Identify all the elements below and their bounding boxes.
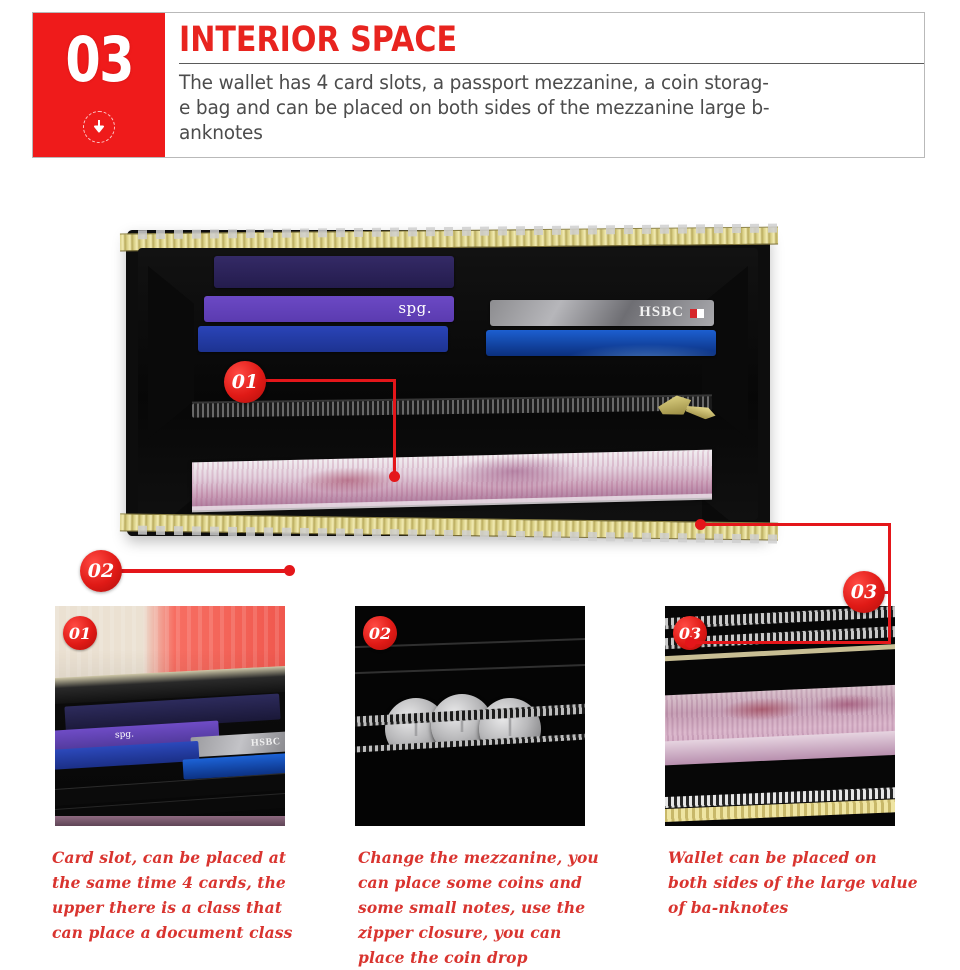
card-label-spg: spg. <box>398 301 432 316</box>
wallet-illustration: spg. HSBC <box>108 224 788 542</box>
callout-point-02 <box>284 565 295 576</box>
callout-leader-03-vertical <box>888 523 891 644</box>
panel-01-label-hsbc: HSBC <box>251 736 281 749</box>
callout-leader-02 <box>118 569 293 573</box>
card-slot-group-right: HSBC <box>490 292 720 378</box>
callout-point-03-top <box>695 519 706 530</box>
header-description: The wallet has 4 card slots, a passport … <box>179 70 930 145</box>
down-arrow-icon <box>83 111 115 143</box>
card-spg: spg. <box>204 296 454 322</box>
callout-point-01 <box>389 471 400 482</box>
title-divider <box>179 63 924 64</box>
panel-01-label-spg: spg. <box>115 729 135 740</box>
step-number-box: 03 <box>33 13 165 157</box>
panel-02-pocket-shadow <box>355 739 585 826</box>
callout-badge-02: 02 <box>80 550 122 592</box>
callout-leader-01-horizontal <box>262 379 396 382</box>
card-blue-right <box>486 330 716 356</box>
card-passport-slot <box>214 256 454 288</box>
card-label-hsbc: HSBC <box>639 305 684 320</box>
header-body: INTERIOR SPACE The wallet has 4 card slo… <box>165 13 924 157</box>
detail-panel-03: 03 <box>665 606 895 826</box>
wallet-interior-photo: spg. HSBC <box>108 224 788 542</box>
callout-leader-03-bottom <box>690 641 891 644</box>
panel-caption-03: Wallet can be placed on both sides of th… <box>668 845 918 920</box>
panel-caption-01: Card slot, can be placed at the same tim… <box>52 845 302 945</box>
callout-leader-01-vertical <box>393 379 396 477</box>
zipper-teeth-lower <box>138 526 784 544</box>
step-number: 03 <box>65 29 132 91</box>
card-hsbc: HSBC <box>490 300 714 326</box>
callout-badge-01: 01 <box>224 361 266 403</box>
gusset-left <box>148 266 194 520</box>
card-blue-left <box>198 326 448 352</box>
page-title: INTERIOR SPACE <box>179 19 811 61</box>
panel-01-note-edge <box>55 816 285 826</box>
panel-badge-02: 02 <box>363 616 397 650</box>
hero-section: spg. HSBC <box>0 172 960 582</box>
callout-point-03-bottom <box>685 637 696 648</box>
section-header: 03 INTERIOR SPACE The wallet has 4 card … <box>32 12 925 158</box>
zipper-teeth-upper <box>138 223 784 239</box>
callout-badge-03: 03 <box>843 571 885 613</box>
callout-leader-03-top <box>700 523 891 526</box>
hsbc-logo-icon <box>690 309 704 318</box>
panel-badge-01: 01 <box>63 616 97 650</box>
detail-panel-01: spg. HSBC 01 <box>55 606 285 826</box>
detail-panel-02: 02 <box>355 606 585 826</box>
panel-caption-02: Change the mezzanine, you can place some… <box>358 845 608 970</box>
